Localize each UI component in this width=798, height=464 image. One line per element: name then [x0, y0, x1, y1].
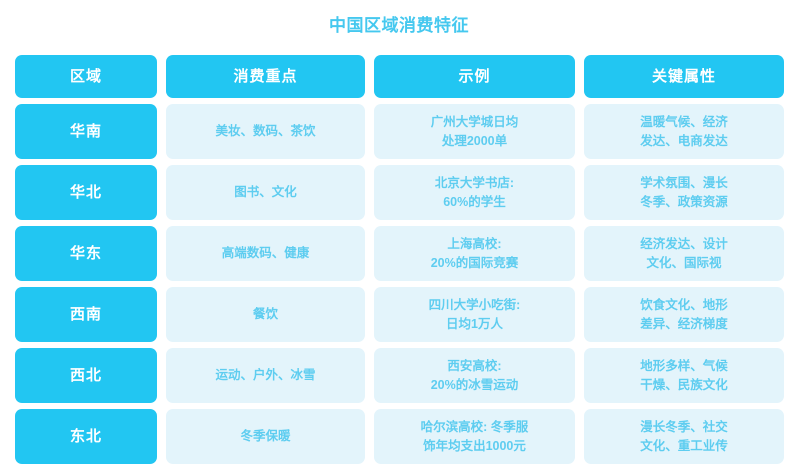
- cell-region-text: 西北: [70, 365, 102, 387]
- column-header-focus-label: 消费重点: [233, 66, 297, 88]
- cell-focus: 冬季保暖: [166, 409, 365, 464]
- cell-example-text: 北京大学书店: 60%的学生: [435, 174, 514, 210]
- cell-example: 西安高校: 20%的冰雪运动: [374, 348, 575, 403]
- cell-attributes-text: 学术氛围、漫长 冬季、政策资源: [640, 174, 728, 210]
- page-root: 中国区域消费特征 区域 消费重点 示例 关键属性 华南 美妆、数码、茶饮: [0, 0, 798, 460]
- cell-region-text: 西南: [70, 304, 102, 326]
- cell-focus-text: 运动、户外、冰雪: [215, 366, 315, 384]
- cell-region: 华北: [15, 165, 157, 220]
- cell-region-text: 华北: [70, 182, 102, 204]
- cell-example-text: 西安高校: 20%的冰雪运动: [431, 357, 519, 393]
- column-header-attributes: 关键属性: [584, 55, 784, 98]
- page-title: 中国区域消费特征: [0, 14, 798, 38]
- cell-region: 华东: [15, 226, 157, 281]
- cell-attributes: 温暖气候、经济 发达、电商发达: [584, 104, 784, 159]
- table-row: 华东 高端数码、健康 上海高校: 20%的国际竞赛 经济发达、设计 文化、国际视: [15, 226, 783, 281]
- cell-region: 东北: [15, 409, 157, 464]
- cell-attributes-text: 漫长冬季、社交 文化、重工业传: [640, 418, 728, 454]
- cell-region: 西南: [15, 287, 157, 342]
- cell-example-text: 广州大学城日均 处理2000单: [431, 113, 519, 149]
- cell-focus: 美妆、数码、茶饮: [166, 104, 365, 159]
- cell-attributes-text: 饮食文化、地形 差异、经济梯度: [640, 296, 728, 332]
- cell-attributes: 地形多样、气候 干燥、民族文化: [584, 348, 784, 403]
- table-row: 华南 美妆、数码、茶饮 广州大学城日均 处理2000单 温暖气候、经济 发达、电…: [15, 104, 783, 159]
- column-header-region: 区域: [15, 55, 157, 98]
- cell-region-text: 东北: [70, 426, 102, 448]
- cell-focus: 餐饮: [166, 287, 365, 342]
- region-consumption-table: 区域 消费重点 示例 关键属性 华南 美妆、数码、茶饮 广州大学城日均 处理20…: [15, 55, 783, 464]
- table-row: 东北 冬季保暖 哈尔滨高校: 冬季服 饰年均支出1000元 漫长冬季、社交 文化…: [15, 409, 783, 464]
- cell-region-text: 华南: [70, 121, 102, 143]
- cell-region: 华南: [15, 104, 157, 159]
- cell-attributes-text: 地形多样、气候 干燥、民族文化: [640, 357, 728, 393]
- table-row: 西南 餐饮 四川大学小吃街: 日均1万人 饮食文化、地形 差异、经济梯度: [15, 287, 783, 342]
- cell-attributes: 饮食文化、地形 差异、经济梯度: [584, 287, 784, 342]
- cell-attributes-text: 经济发达、设计 文化、国际视: [640, 235, 728, 271]
- column-header-focus: 消费重点: [166, 55, 365, 98]
- cell-example: 广州大学城日均 处理2000单: [374, 104, 575, 159]
- cell-focus-text: 美妆、数码、茶饮: [215, 122, 315, 140]
- cell-attributes: 经济发达、设计 文化、国际视: [584, 226, 784, 281]
- cell-attributes: 学术氛围、漫长 冬季、政策资源: [584, 165, 784, 220]
- column-header-example: 示例: [374, 55, 575, 98]
- column-header-attributes-label: 关键属性: [652, 66, 716, 88]
- cell-example: 四川大学小吃街: 日均1万人: [374, 287, 575, 342]
- cell-example-text: 上海高校: 20%的国际竞赛: [431, 235, 519, 271]
- cell-example: 上海高校: 20%的国际竞赛: [374, 226, 575, 281]
- cell-focus-text: 餐饮: [253, 305, 278, 323]
- cell-focus-text: 图书、文化: [234, 183, 297, 201]
- table-row: 华北 图书、文化 北京大学书店: 60%的学生 学术氛围、漫长 冬季、政策资源: [15, 165, 783, 220]
- cell-focus-text: 冬季保暖: [240, 427, 290, 445]
- cell-focus: 运动、户外、冰雪: [166, 348, 365, 403]
- cell-focus: 图书、文化: [166, 165, 365, 220]
- cell-attributes-text: 温暖气候、经济 发达、电商发达: [640, 113, 728, 149]
- cell-example-text: 四川大学小吃街: 日均1万人: [429, 296, 521, 332]
- table-header-row: 区域 消费重点 示例 关键属性: [15, 55, 783, 98]
- column-header-example-label: 示例: [458, 66, 490, 88]
- cell-focus: 高端数码、健康: [166, 226, 365, 281]
- cell-example-text: 哈尔滨高校: 冬季服 饰年均支出1000元: [421, 418, 529, 454]
- cell-region: 西北: [15, 348, 157, 403]
- cell-attributes: 漫长冬季、社交 文化、重工业传: [584, 409, 784, 464]
- column-header-region-label: 区域: [70, 66, 102, 88]
- cell-region-text: 华东: [70, 243, 102, 265]
- cell-example: 哈尔滨高校: 冬季服 饰年均支出1000元: [374, 409, 575, 464]
- cell-focus-text: 高端数码、健康: [222, 244, 310, 262]
- cell-example: 北京大学书店: 60%的学生: [374, 165, 575, 220]
- table-row: 西北 运动、户外、冰雪 西安高校: 20%的冰雪运动 地形多样、气候 干燥、民族…: [15, 348, 783, 403]
